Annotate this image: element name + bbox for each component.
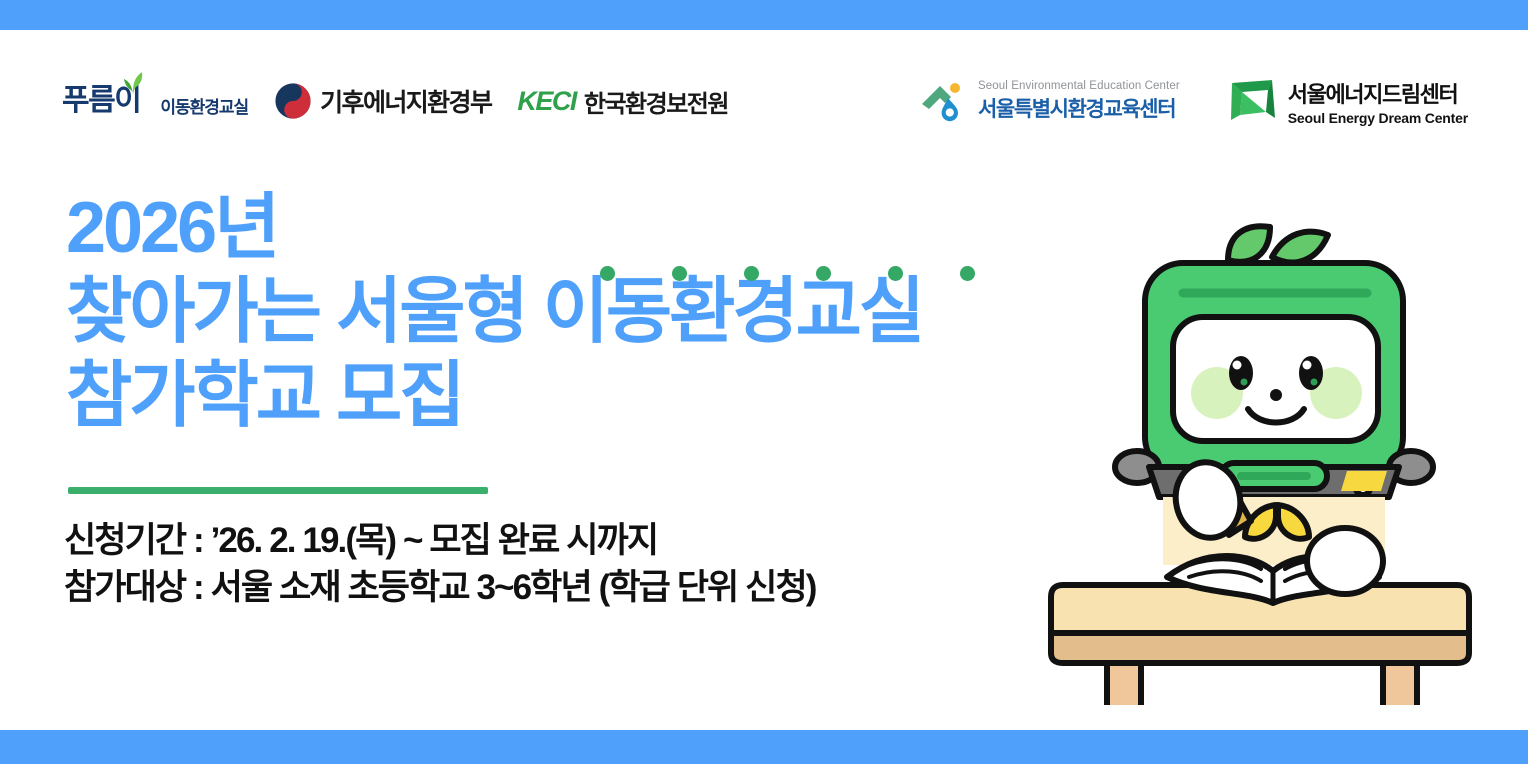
application-period: 신청기간 : ’26. 2. 19.(목) ~ 모집 완료 시까지 [64,518,816,565]
bottom-accent-bar [0,730,1528,764]
eye-right [1299,356,1323,390]
headline-year: 2026년 [66,192,922,264]
mascot-illustration [1045,205,1495,705]
hand-right [1307,528,1383,594]
dot [960,266,975,281]
seec-text: Seoul Environmental Education Center 서울특… [978,80,1180,123]
details-block: 신청기간 : ’26. 2. 19.(목) ~ 모집 완료 시까지 참가대상 :… [64,518,816,612]
nose [1270,389,1282,401]
dot [816,266,831,281]
logo-sedc: 서울에너지드림센터 Seoul Energy Dream Center [1228,72,1468,130]
desk-leg-right [1383,663,1417,705]
logo-pureumi: 푸름이 이동환경교실 [62,72,248,130]
keci-name: 한국환경보전원 [584,84,728,119]
logo-seec: Seoul Environmental Education Center 서울특… [920,72,1180,130]
logo-group-left: 푸름이 이동환경교실 기후에너지환경부 KECI [62,72,728,130]
dot [888,266,903,281]
promo-banner: 푸름이 이동환경교실 기후에너지환경부 KECI [0,0,1528,764]
taegeuk-icon [274,82,312,120]
top-accent-bar [0,0,1528,30]
green-divider-rule [68,487,488,494]
logo-ministry: 기후에너지환경부 [274,72,491,130]
eye-left [1229,356,1253,390]
green-cube-icon [1228,77,1280,125]
target-audience: 참가대상 : 서울 소재 초등학교 3~6학년 (학급 단위 신청) [64,565,816,612]
headline-sub: 참가학교 모집 [66,360,922,432]
decorative-dots [600,266,975,281]
logo-group-right: Seoul Environmental Education Center 서울특… [920,72,1468,130]
leaf-left-icon [1228,226,1270,262]
leaf-right-icon [1272,232,1328,263]
pureumi-subtitle: 이동환경교실 [160,93,248,118]
pureumi-wordmark: 푸름이 [62,86,140,116]
desk-edge [1051,633,1469,663]
house-drop-icon [920,78,970,124]
desk-leg-left [1107,663,1141,705]
logo-keci: KECI 한국환경보전원 [517,72,728,130]
headline-main: 찾아가는 서울형 이동환경교실 [66,276,922,348]
sedc-text: 서울에너지드림센터 Seoul Energy Dream Center [1288,77,1468,126]
dot [600,266,615,281]
seec-name-ko: 서울특별시환경교육센터 [978,93,1180,123]
sprout-icon [120,70,146,94]
mascot-svg [1045,205,1495,705]
sedc-name-en: Seoul Energy Dream Center [1288,110,1468,126]
sedc-name-ko: 서울에너지드림센터 [1288,77,1468,109]
keci-mark: KECI [517,86,576,117]
dot [672,266,687,281]
logo-strip: 푸름이 이동환경교실 기후에너지환경부 KECI [62,72,1472,134]
dot [744,266,759,281]
ministry-name: 기후에너지환경부 [320,83,491,119]
seec-name-en: Seoul Environmental Education Center [978,80,1180,92]
headline-block: 2026년 찾아가는 서울형 이동환경교실 참가학교 모집 [66,192,922,432]
